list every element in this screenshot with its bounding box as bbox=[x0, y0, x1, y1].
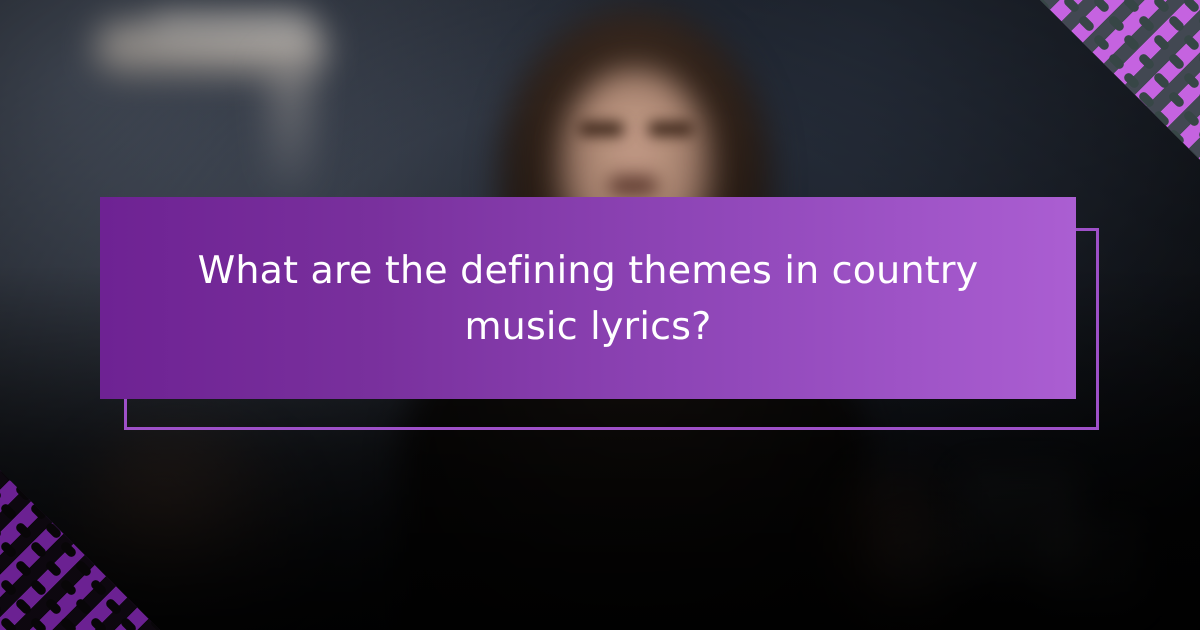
dash-mark bbox=[0, 597, 3, 615]
corner-decoration-top-right bbox=[1040, 0, 1200, 160]
dash-mark bbox=[1107, 90, 1125, 108]
title-card: What are the defining themes in country … bbox=[100, 197, 1076, 399]
dash-mark bbox=[0, 483, 3, 501]
dash-mark bbox=[1062, 71, 1080, 89]
dash-mark bbox=[119, 578, 137, 596]
dash-mark bbox=[89, 502, 107, 520]
dash-mark bbox=[29, 470, 47, 483]
dash-mark bbox=[74, 483, 92, 501]
dash-mark bbox=[74, 559, 92, 577]
dash-mark bbox=[1152, 109, 1170, 127]
dash-mark bbox=[149, 540, 160, 558]
dash-mark bbox=[29, 616, 47, 630]
dash-mark bbox=[1107, 14, 1125, 32]
dash-mark bbox=[1167, 14, 1185, 32]
dash-mark bbox=[1092, 147, 1110, 160]
dash-mark bbox=[1077, 128, 1095, 146]
dash-mark bbox=[1122, 0, 1140, 14]
dash-mark bbox=[119, 502, 137, 520]
dash-mark bbox=[1122, 33, 1140, 51]
dash-mark bbox=[1107, 128, 1125, 146]
dash-mark bbox=[1137, 14, 1155, 32]
dash-mark bbox=[0, 559, 3, 577]
dash-mark bbox=[1092, 71, 1110, 89]
dash-mark bbox=[1167, 52, 1185, 70]
dash-mark bbox=[1047, 90, 1065, 108]
dash-mark bbox=[1122, 109, 1140, 127]
dash-mark bbox=[29, 502, 47, 520]
dash-mark bbox=[1092, 109, 1110, 127]
dash-mark bbox=[0, 616, 18, 630]
dash-mark bbox=[89, 540, 107, 558]
dash-mark bbox=[44, 597, 62, 615]
dash-mark bbox=[1122, 147, 1140, 160]
dash-mark bbox=[104, 521, 122, 539]
dash-mark bbox=[119, 470, 137, 483]
dash-mark bbox=[1047, 128, 1065, 146]
dash-mark bbox=[1137, 52, 1155, 70]
dash-field-bottom-left bbox=[0, 470, 160, 630]
dash-mark bbox=[1167, 90, 1185, 108]
dash-mark bbox=[1062, 33, 1080, 51]
dash-mark bbox=[59, 470, 77, 483]
dash-mark bbox=[1092, 0, 1110, 14]
dash-mark bbox=[1182, 109, 1200, 127]
dash-mark bbox=[0, 578, 18, 596]
dash-mark bbox=[0, 502, 18, 520]
dash-mark bbox=[1040, 33, 1051, 51]
share-card-canvas: What are the defining themes in country … bbox=[0, 0, 1200, 630]
dash-mark bbox=[1152, 0, 1170, 14]
dash-mark bbox=[89, 470, 107, 483]
page-title: What are the defining themes in country … bbox=[148, 242, 1028, 354]
dash-mark bbox=[119, 616, 137, 630]
dash-mark bbox=[1182, 33, 1200, 51]
dash-mark bbox=[74, 597, 92, 615]
dash-mark bbox=[1077, 90, 1095, 108]
dash-mark bbox=[44, 521, 62, 539]
dash-mark bbox=[1062, 0, 1080, 14]
dash-mark bbox=[1137, 90, 1155, 108]
dash-mark bbox=[14, 483, 32, 501]
dash-mark bbox=[119, 540, 137, 558]
dash-mark bbox=[59, 578, 77, 596]
dash-mark bbox=[89, 616, 107, 630]
dash-mark bbox=[1182, 71, 1200, 89]
dash-mark bbox=[1047, 52, 1065, 70]
dash-mark bbox=[14, 521, 32, 539]
dash-mark bbox=[29, 578, 47, 596]
dash-mark bbox=[29, 540, 47, 558]
dash-mark bbox=[44, 559, 62, 577]
dash-mark bbox=[0, 540, 18, 558]
dash-mark bbox=[1182, 0, 1200, 14]
dash-mark bbox=[134, 483, 152, 501]
dash-mark bbox=[1137, 128, 1155, 146]
dash-mark bbox=[134, 521, 152, 539]
dash-mark bbox=[1167, 128, 1185, 146]
dash-mark bbox=[59, 540, 77, 558]
dash-mark bbox=[59, 502, 77, 520]
dash-mark bbox=[1062, 109, 1080, 127]
dash-mark bbox=[0, 521, 3, 539]
dash-mark bbox=[44, 483, 62, 501]
dash-mark bbox=[1152, 147, 1170, 160]
dash-mark bbox=[104, 483, 122, 501]
dash-mark bbox=[1040, 147, 1051, 160]
dash-mark bbox=[14, 559, 32, 577]
dash-mark bbox=[89, 578, 107, 596]
dash-mark bbox=[1062, 147, 1080, 160]
dash-mark bbox=[74, 521, 92, 539]
dash-mark bbox=[1092, 33, 1110, 51]
dash-mark bbox=[104, 559, 122, 577]
dash-mark bbox=[1077, 52, 1095, 70]
dash-mark bbox=[59, 616, 77, 630]
dash-mark bbox=[1152, 71, 1170, 89]
dash-mark bbox=[14, 597, 32, 615]
dash-mark bbox=[149, 578, 160, 596]
dash-mark bbox=[1152, 33, 1170, 51]
dash-mark bbox=[1122, 71, 1140, 89]
dash-mark bbox=[1107, 52, 1125, 70]
dash-mark bbox=[1040, 71, 1051, 89]
corner-decoration-bottom-left bbox=[0, 470, 160, 630]
dash-mark bbox=[134, 559, 152, 577]
dash-mark bbox=[149, 502, 160, 520]
dash-mark bbox=[104, 597, 122, 615]
dash-mark bbox=[1040, 109, 1051, 127]
dash-field-top-right bbox=[1040, 0, 1200, 160]
dash-mark bbox=[149, 470, 160, 483]
dash-mark bbox=[1077, 14, 1095, 32]
